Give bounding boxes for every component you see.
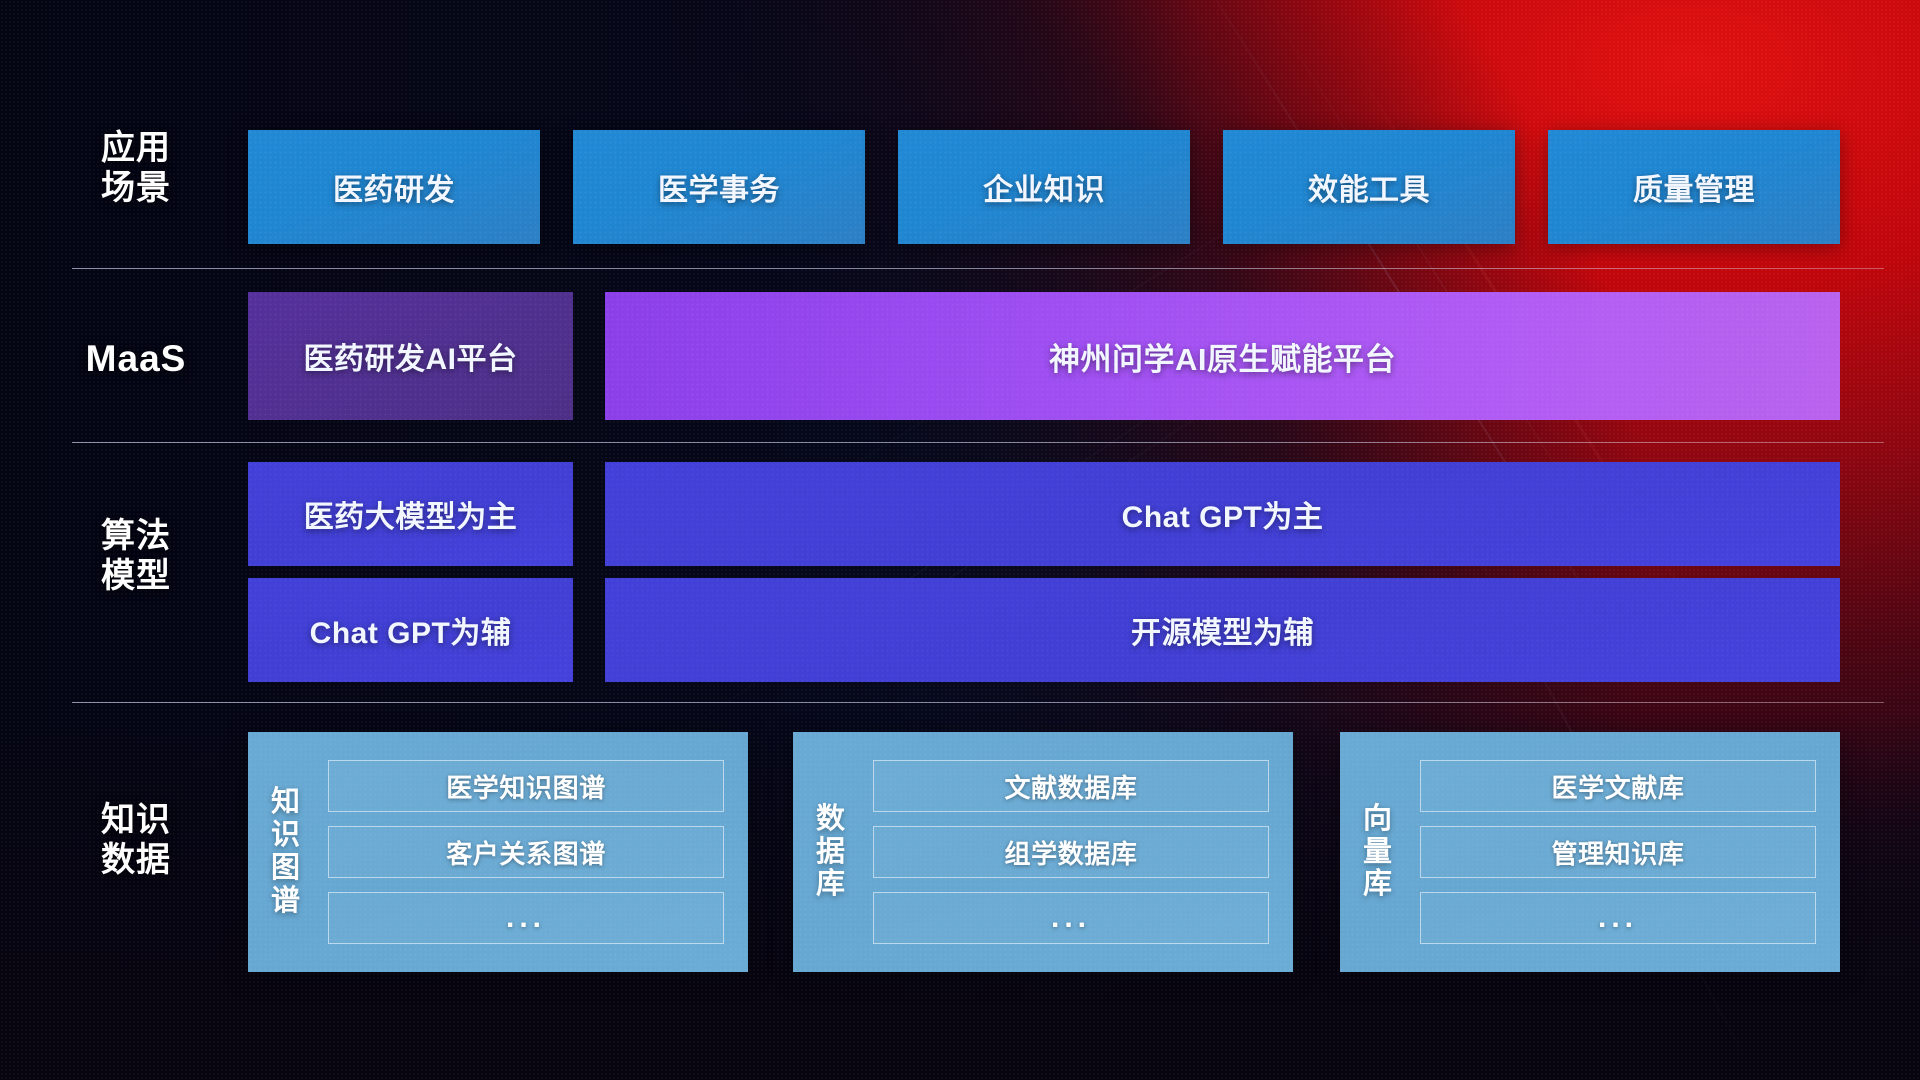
maas-left-label: 医药研发AI平台 <box>304 334 518 378</box>
algo-right-primary[interactable]: Chat GPT为主 <box>605 462 1840 566</box>
row-label-algorithm: 算法 模型 <box>72 516 200 596</box>
knowledge-item[interactable]: 管理知识库 <box>1420 826 1816 878</box>
divider-application-maas <box>72 268 1884 269</box>
knowledge-panel-graph[interactable]: 知 识 图 谱 医学知识图谱 客户关系图谱 ... <box>248 732 748 972</box>
knowledge-panel-title: 数 据 库 <box>793 803 869 901</box>
row-label-application: 应用 场景 <box>72 128 200 208</box>
knowledge-panel-items: 医学知识图谱 客户关系图谱 ... <box>324 738 748 966</box>
algo-label: Chat GPT为主 <box>1122 492 1324 536</box>
row-label-maas: MaaS <box>72 337 200 381</box>
knowledge-panel-title: 向 量 库 <box>1340 803 1416 901</box>
knowledge-panel-title: 知 识 图 谱 <box>248 786 324 917</box>
knowledge-item[interactable]: 文献数据库 <box>873 760 1269 812</box>
maas-right-platform[interactable]: 神州问学AI原生赋能平台 <box>605 292 1840 420</box>
algo-label: 开源模型为辅 <box>1131 608 1314 652</box>
app-tile-label: 效能工具 <box>1308 165 1430 209</box>
knowledge-panel-items: 医学文献库 管理知识库 ... <box>1416 738 1840 966</box>
app-tile-label: 企业知识 <box>983 165 1105 209</box>
knowledge-panel-items: 文献数据库 组学数据库 ... <box>869 738 1293 966</box>
architecture-diagram: 应用 场景 医药研发 医学事务 企业知识 效能工具 质量管理 MaaS 医药研发… <box>0 0 1920 1080</box>
row-label-knowledge: 知识 数据 <box>72 800 200 880</box>
divider-maas-algorithm <box>72 442 1884 443</box>
knowledge-item[interactable]: 组学数据库 <box>873 826 1269 878</box>
algo-left-secondary[interactable]: Chat GPT为辅 <box>248 578 573 682</box>
app-tile-label: 医学事务 <box>658 165 780 209</box>
algo-right-secondary[interactable]: 开源模型为辅 <box>605 578 1840 682</box>
app-tile-3[interactable]: 效能工具 <box>1223 130 1515 244</box>
maas-left-platform[interactable]: 医药研发AI平台 <box>248 292 573 420</box>
app-tile-4[interactable]: 质量管理 <box>1548 130 1840 244</box>
knowledge-item[interactable]: 医学文献库 <box>1420 760 1816 812</box>
divider-algorithm-knowledge <box>72 702 1884 703</box>
knowledge-item[interactable]: 客户关系图谱 <box>328 826 724 878</box>
knowledge-item-more[interactable]: ... <box>1420 892 1816 944</box>
knowledge-item-more[interactable]: ... <box>873 892 1269 944</box>
app-tile-label: 医药研发 <box>333 165 455 209</box>
knowledge-item-more[interactable]: ... <box>328 892 724 944</box>
algo-label: Chat GPT为辅 <box>310 608 512 652</box>
app-tile-label: 质量管理 <box>1633 165 1755 209</box>
app-tile-2[interactable]: 企业知识 <box>898 130 1190 244</box>
algo-label: 医药大模型为主 <box>304 492 518 536</box>
app-tile-1[interactable]: 医学事务 <box>573 130 865 244</box>
knowledge-panel-vector[interactable]: 向 量 库 医学文献库 管理知识库 ... <box>1340 732 1840 972</box>
algo-left-primary[interactable]: 医药大模型为主 <box>248 462 573 566</box>
knowledge-item[interactable]: 医学知识图谱 <box>328 760 724 812</box>
knowledge-panel-database[interactable]: 数 据 库 文献数据库 组学数据库 ... <box>793 732 1293 972</box>
app-tile-0[interactable]: 医药研发 <box>248 130 540 244</box>
maas-right-label: 神州问学AI原生赋能平台 <box>1049 334 1396 379</box>
